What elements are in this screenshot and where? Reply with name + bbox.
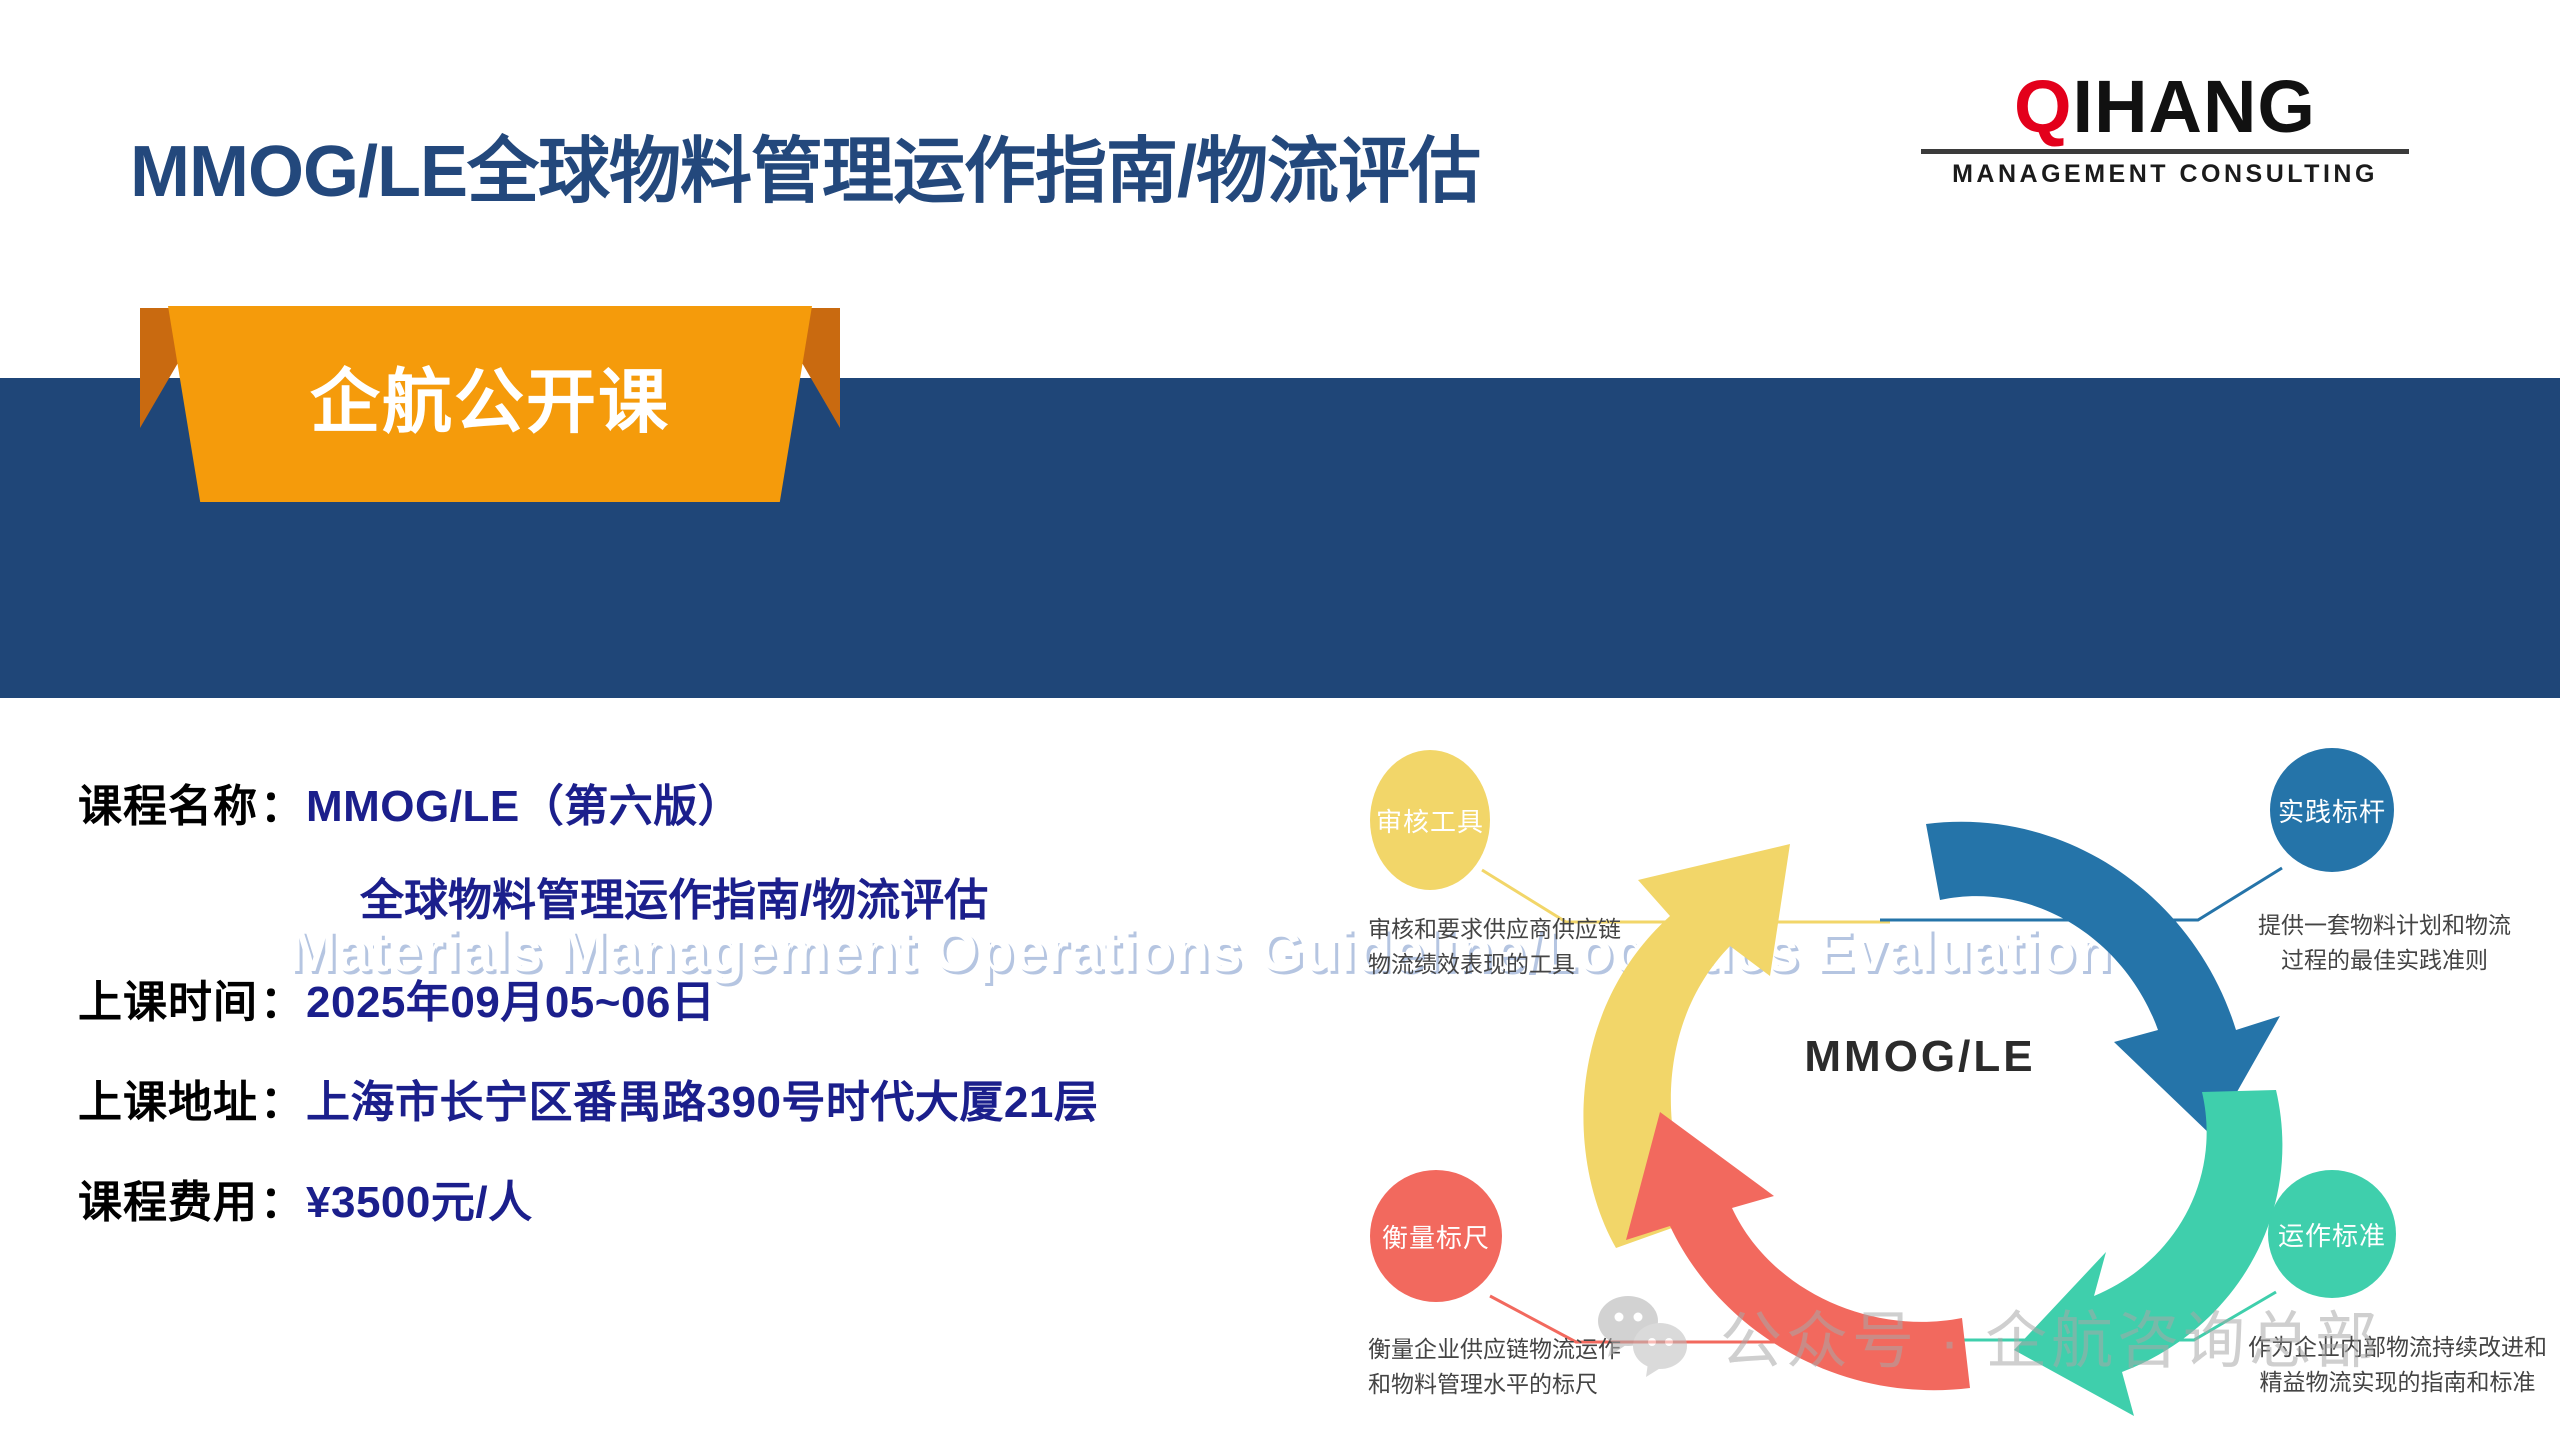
info-colon: ： (258, 1166, 306, 1230)
node-desc-line: 作为企业内部物流持续改进和 (2248, 1330, 2547, 1365)
page-title: MMOG/LE全球物料管理运作指南/物流评估 (130, 112, 1480, 217)
node-desc-standard: 作为企业内部物流持续改进和 精益物流实现的指南和标准 (2248, 1330, 2547, 1399)
node-desc-benchmark: 提供一套物料计划和物流 过程的最佳实践准则 (2258, 908, 2511, 977)
node-circle-audit: 审核工具 (1370, 750, 1490, 890)
info-row-course-name: 课程名称 ： MMOG/LE（第六版） (78, 770, 1408, 834)
info-colon: ： (258, 966, 306, 1030)
node-desc-measure: 衡量企业供应链物流运作 和物料管理水平的标尺 (1368, 1332, 1621, 1401)
mmogle-cycle-diagram: MMOG/LE 审核工具 审核和要求供应商供应链 物流绩效表现的工具 实践标杆 … (1370, 740, 2550, 1440)
logo-tagline: MANAGEMENT CONSULTING (1915, 160, 2415, 189)
info-label: 课程名称 (78, 770, 258, 834)
info-row-class-address: 上课地址 ： 上海市长宁区番禺路390号时代大厦21层 (78, 1066, 1408, 1130)
node-desc-line: 和物料管理水平的标尺 (1368, 1367, 1621, 1402)
info-row-course-fee: 课程费用 ： ¥3500元/人 (78, 1166, 1408, 1230)
course-info-list: 课程名称 ： MMOG/LE（第六版） 全球物料管理运作指南/物流评估 上课时间… (78, 770, 1408, 1266)
node-desc-line: 审核和要求供应商供应链 (1368, 912, 1621, 947)
node-circle-benchmark: 实践标杆 (2270, 748, 2394, 872)
node-desc-line: 精益物流实现的指南和标准 (2248, 1365, 2547, 1400)
slide-root: MMOG/LE全球物料管理运作指南/物流评估 QIHANG MANAGEMENT… (0, 0, 2560, 1440)
node-label-standard: 运作标准 (2278, 1216, 2386, 1253)
info-label: 课程费用 (78, 1166, 258, 1230)
arrow-red (1626, 1112, 1970, 1390)
node-label-measure: 衡量标尺 (1382, 1218, 1490, 1255)
node-circle-measure: 衡量标尺 (1370, 1170, 1502, 1302)
node-desc-audit: 审核和要求供应商供应链 物流绩效表现的工具 (1368, 912, 1621, 981)
ribbon-label: 企航公开课 (140, 346, 840, 447)
node-desc-line: 提供一套物料计划和物流 (2258, 908, 2511, 943)
info-value: 2025年09月05~06日 (306, 966, 715, 1030)
info-colon: ： (258, 1066, 306, 1130)
info-row-class-time: 上课时间 ： 2025年09月05~06日 (78, 966, 1408, 1030)
node-label-benchmark: 实践标杆 (2278, 792, 2386, 829)
logo-wordmark: QIHANG (1915, 72, 2415, 142)
info-value: 上海市长宁区番禺路390号时代大厦21层 (306, 1066, 1098, 1130)
orange-ribbon: 企航公开课 (140, 300, 840, 500)
logo-letters-ihang: IHANG (2073, 65, 2316, 148)
info-value: ¥3500元/人 (306, 1166, 533, 1230)
arrow-teal (2014, 1090, 2282, 1416)
info-colon: ： (258, 770, 306, 834)
qihang-logo: QIHANG MANAGEMENT CONSULTING (1915, 72, 2415, 189)
node-circle-standard: 运作标准 (2268, 1170, 2396, 1298)
node-label-audit: 审核工具 (1376, 802, 1484, 839)
logo-divider (1921, 149, 2409, 154)
info-label: 上课地址 (78, 1066, 258, 1130)
arrow-blue (1926, 822, 2280, 1136)
info-subvalue-course-name: 全球物料管理运作指南/物流评估 (360, 864, 1408, 928)
node-desc-line: 过程的最佳实践准则 (2258, 943, 2511, 978)
info-label: 上课时间 (78, 966, 258, 1030)
diagram-center-label: MMOG/LE (1710, 1032, 2130, 1082)
node-desc-line: 衡量企业供应链物流运作 (1368, 1332, 1621, 1367)
logo-letter-q: Q (2014, 65, 2073, 148)
node-desc-line: 物流绩效表现的工具 (1368, 947, 1621, 982)
info-value: MMOG/LE（第六版） (306, 770, 742, 834)
